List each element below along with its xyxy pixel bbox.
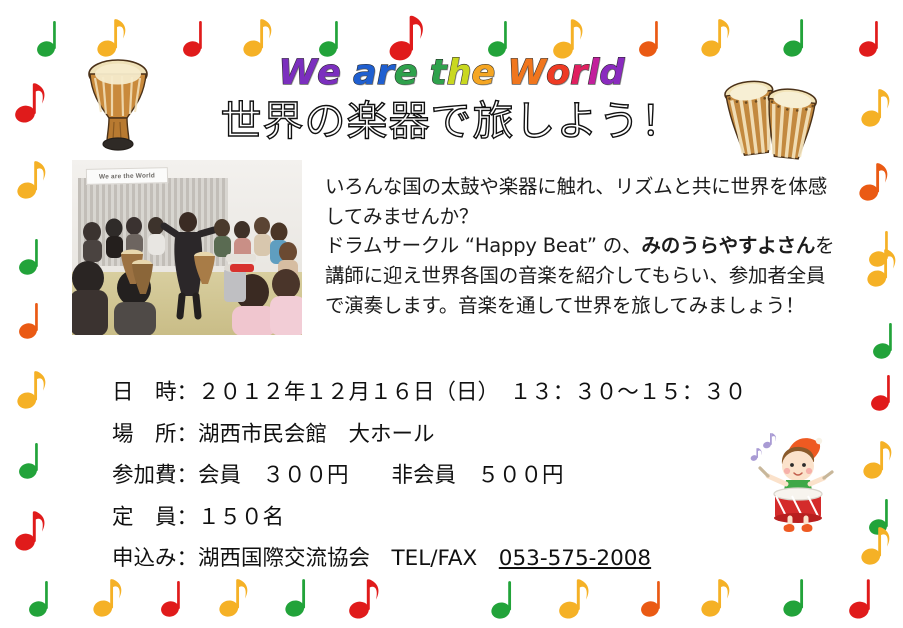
detail-value: 会員 ３００円 非会員 ５００円 xyxy=(198,465,564,487)
contact-phone-number[interactable]: 053-575-2008 xyxy=(499,548,651,570)
music-note-quarter-icon xyxy=(872,320,902,360)
instructor-name: みのうらやすよさん xyxy=(641,234,815,257)
title-letter-10 xyxy=(495,56,507,91)
detail-value: 湖西市民会館 大ホール xyxy=(198,424,435,446)
music-note-quarter-icon xyxy=(870,372,900,412)
detail-label: 申込み： xyxy=(112,548,198,570)
title-letter-3: a xyxy=(353,56,377,91)
title-letter-8: h xyxy=(447,56,472,91)
music-note-quarter-icon xyxy=(284,576,316,618)
title-letter-5: e xyxy=(394,56,418,91)
music-note-eighth-icon xyxy=(700,576,732,618)
event-photo-image: We are the World xyxy=(72,160,302,335)
music-note-quarter-icon xyxy=(18,440,48,480)
music-note-eighth-icon xyxy=(862,438,894,480)
title-letter-9: e xyxy=(472,56,496,91)
music-note-eighth-icon xyxy=(558,576,591,620)
event-detail-row: 場 所：湖西市民会館 大ホール xyxy=(112,414,832,456)
detail-label: 場 所： xyxy=(112,424,198,446)
music-note-quarter-icon xyxy=(18,236,48,276)
detail-label: 参加費： xyxy=(112,465,198,487)
music-note-eighth-icon xyxy=(348,576,381,620)
poster-canvas: We are the World 世界の楽器で旅しよう！ We are the … xyxy=(0,0,903,628)
detail-label: 定 員： xyxy=(112,507,198,529)
title-letter-13: r xyxy=(570,56,587,91)
event-details-list: 日 時：２０１２年１２月１６日（日） １３：３０〜１５：３０場 所：湖西市民会館… xyxy=(112,372,832,580)
music-note-quarter-icon xyxy=(28,578,58,618)
music-note-quarter-icon xyxy=(160,578,190,618)
music-note-eighth-icon xyxy=(218,576,250,618)
title-letter-14: l xyxy=(587,56,599,91)
detail-value: 湖西国際交流協会 TEL/FAX xyxy=(198,548,499,570)
music-note-quarter-icon xyxy=(490,578,522,620)
description-line: ドラムサークル “Happy Beat” の、みのうらやすよさんを xyxy=(325,231,870,261)
detail-value: ２０１２年１２月１６日（日） １３：３０〜１５：３０ xyxy=(198,382,746,404)
detail-value: １５０名 xyxy=(198,507,284,529)
title-letter-1: e xyxy=(317,56,341,91)
description-line: してみませんか？ xyxy=(325,202,870,232)
title-letter-4: r xyxy=(377,56,394,91)
music-note-eighth-icon xyxy=(14,508,47,552)
music-note-quarter-icon xyxy=(640,578,670,618)
music-note-quarter-icon xyxy=(782,576,814,618)
poster-header: We are the World 世界の楽器で旅しよう！ xyxy=(0,48,903,158)
page-title-english: We are the World xyxy=(0,56,903,91)
event-photo: We are the World xyxy=(72,160,302,335)
detail-label: 日 時： xyxy=(112,382,198,404)
music-note-quarter-icon xyxy=(848,576,881,620)
description-line: いろんな国の太鼓や楽器に触れ、リズムと共に世界を体感 xyxy=(325,172,870,202)
title-letter-0: W xyxy=(279,56,318,91)
page-title-japanese: 世界の楽器で旅しよう！ xyxy=(0,98,903,145)
music-note-quarter-icon xyxy=(18,300,48,340)
event-description: いろんな国の太鼓や楽器に触れ、リズムと共に世界を体感してみませんか？ドラムサーク… xyxy=(325,172,870,320)
description-line: 講師に迎え世界各国の音楽を紹介してもらい、参加者全員 xyxy=(325,261,870,291)
title-letter-2 xyxy=(341,56,353,91)
title-letter-12: o xyxy=(546,56,570,91)
description-line: で演奏します。音楽を通して世界を旅してみましょう！ xyxy=(325,291,870,321)
music-note-eighth-icon xyxy=(860,524,892,566)
event-detail-row: 申込み：湖西国際交流協会 TEL/FAX 053-575-2008 xyxy=(112,538,832,580)
music-note-eighth-icon xyxy=(866,246,898,288)
event-detail-row: 定 員：１５０名 xyxy=(112,497,832,539)
title-letter-7: t xyxy=(430,56,447,91)
event-detail-row: 日 時：２０１２年１２月１６日（日） １３：３０〜１５：３０ xyxy=(112,372,832,414)
music-note-quarter-icon xyxy=(868,228,898,268)
title-letter-11: W xyxy=(507,56,546,91)
music-note-quarter-icon xyxy=(868,496,898,536)
music-note-eighth-icon xyxy=(16,368,48,410)
title-letter-6 xyxy=(418,56,430,91)
title-letter-15: d xyxy=(599,56,624,91)
event-detail-row: 参加費：会員 ３００円 非会員 ５００円 xyxy=(112,455,832,497)
music-note-eighth-icon xyxy=(92,576,124,618)
music-note-eighth-icon xyxy=(16,158,48,200)
